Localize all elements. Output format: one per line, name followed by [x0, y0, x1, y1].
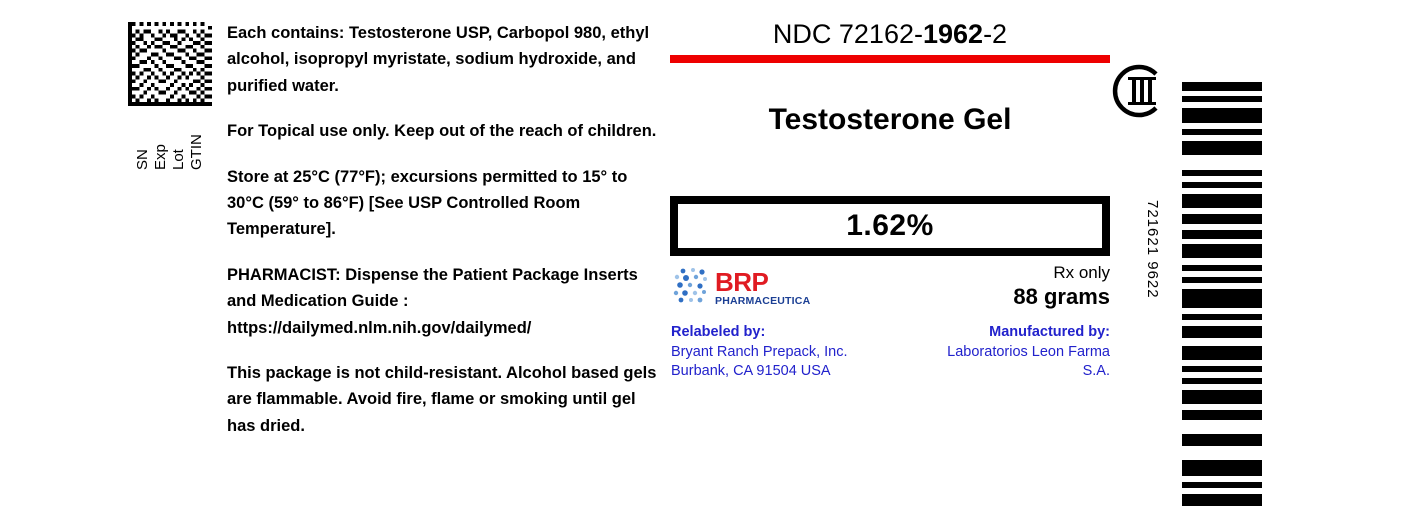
datamatrix-barcode-icon: [128, 22, 212, 106]
ndc-product-code: 1962: [923, 19, 983, 49]
ndc-prefix: NDC 72162-: [773, 19, 923, 49]
barcode-digits-text: 721621 9622: [1145, 200, 1160, 299]
medication-label: GTIN Lot Exp SN Each contains: Testoster…: [0, 0, 1425, 525]
manufactured-by-heading: Manufactured by:: [890, 323, 1110, 343]
datamatrix-block: [128, 22, 212, 106]
rx-and-weight-block: Rx only 88 grams: [900, 262, 1110, 311]
red-divider-rule: [670, 55, 1110, 63]
strength-value: 1.62%: [846, 209, 934, 243]
datamatrix-captions: GTIN Lot Exp SN: [128, 108, 212, 170]
relabeled-by-line-1: Bryant Ranch Prepack, Inc.: [671, 343, 901, 363]
brp-pharmaceuticals-logo: BRP PHARMACEUTICALS: [671, 265, 811, 309]
datamatrix-caption-lot: Lot: [171, 149, 186, 170]
ndc-number: NDC 72162-1962-2: [668, 20, 1112, 48]
pharmacist-paragraph: PHARMACIST: Dispense the Patient Package…: [227, 262, 667, 341]
linear-barcode-icon: [1182, 82, 1262, 430]
relabeled-by-block: Relabeled by: Bryant Ranch Prepack, Inc.…: [671, 323, 901, 382]
manufactured-by-line-2: S.A.: [890, 362, 1110, 382]
manufactured-by-block: Manufactured by: Laboratorios Leon Farma…: [890, 323, 1110, 382]
product-name: Testosterone Gel: [668, 103, 1112, 137]
left-text-column: Each contains: Testosterone USP, Carbopo…: [227, 20, 667, 439]
relabeled-by-heading: Relabeled by:: [671, 323, 901, 343]
storage-paragraph: Store at 25°C (77°F); excursions permitt…: [227, 164, 667, 243]
topical-use-paragraph: For Topical use only. Keep out of the re…: [227, 118, 667, 144]
brp-logo-name: BRP: [715, 267, 769, 297]
relabeled-by-line-2: Burbank, CA 91504 USA: [671, 362, 901, 382]
datamatrix-caption-gtin: GTIN: [189, 134, 204, 170]
controlled-substance-c3-icon: [1110, 63, 1166, 119]
brp-logo-tagline: PHARMACEUTICALS: [715, 295, 811, 307]
ndc-package-code: -2: [983, 19, 1007, 49]
net-weight-text: 88 grams: [900, 283, 1110, 311]
ingredients-paragraph: Each contains: Testosterone USP, Carbopo…: [227, 20, 667, 99]
strength-box: 1.62%: [670, 196, 1110, 256]
flammability-warning-paragraph: This package is not child-resistant. Alc…: [227, 360, 667, 439]
datamatrix-caption-exp: Exp: [153, 144, 168, 170]
barcode-digits: 721621 9622: [1149, 200, 1171, 310]
datamatrix-caption-sn: SN: [135, 149, 150, 170]
manufactured-by-line-1: Laboratorios Leon Farma: [890, 343, 1110, 363]
rx-only-text: Rx only: [900, 262, 1110, 283]
